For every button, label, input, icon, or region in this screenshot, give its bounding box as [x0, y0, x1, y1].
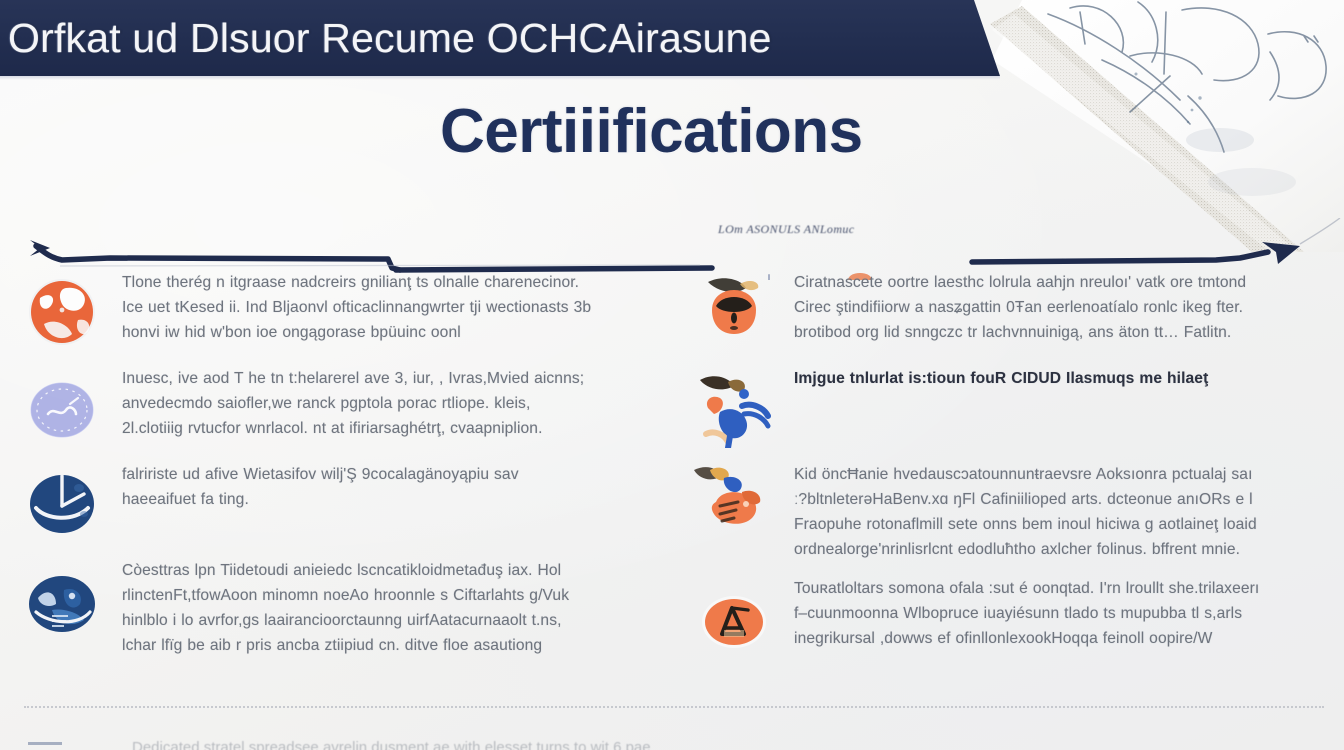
entry-line: rlinctenFt,tfowAoon minomn noeAo hroonnl… [122, 583, 658, 608]
orange-hand-icon [690, 460, 778, 544]
list-item[interactable]: Imjgue tnlurlat is:tioun fouR CIDUD Ilas… [690, 364, 1330, 448]
entry-line: 2l.clotiiig rvtucfor wnrlacol. nt at ifi… [122, 416, 658, 441]
left-column: Tlone therég n itgraase nadcreirs gnilia… [0, 268, 672, 750]
entry-body: Còesttras lpn Tiidetoudi anieiedc lscnca… [122, 556, 658, 658]
entry-line: honvi iw hid w'bon ioe ongągorase bpüuin… [122, 320, 658, 345]
entry-body: Touʀatloltars somona ofala :sut é oonqta… [794, 574, 1330, 651]
entry-body: Inuesc, ive aod T he tn t:helarerel ave … [122, 364, 658, 441]
entry-line: ordnealorge'nrinlisrlcnt edodluħtho axlc… [794, 537, 1330, 562]
entry-line: anvedecmdo saiofler,we ranck pgptola por… [122, 391, 658, 416]
entry-line: f–cuunmoonna Wlbopruce iuayiésunn tlado … [794, 601, 1330, 626]
entry-line-bold: Imjgue tnlurlat is:tioun fouR CIDUD Ilas… [794, 366, 1330, 391]
footer-dotted-rule [24, 706, 1324, 708]
entry-line: haeeaifuet fa ting. [122, 487, 658, 512]
header-title: Orfkat ud Dlsuor Recume OCHCAirasune [0, 15, 772, 62]
document-page: Orfkat ud Dlsuor Recume OCHCAirasune Cer… [0, 0, 1344, 750]
entry-body: Ciratnascete oortre laesthc lolrula aahj… [794, 268, 1330, 345]
content-columns: Tlone therég n itgraase nadcreirs gnilia… [0, 268, 1344, 750]
entry-line: Ice uet tKesed ii. Ind Bljaonvl ofticacl… [122, 295, 658, 320]
divider-script-note: LOm ASONULS ANLomuc [718, 222, 978, 237]
navy-gear-icon [18, 556, 106, 640]
entry-line: Ciratnascete oortre laesthc lolrula aahj… [794, 270, 1330, 295]
orange-globe-icon [18, 268, 106, 352]
orange-face-icon [690, 268, 778, 352]
entry-body: Kid öncĦanie hvedauscɔatounnunŧraevsre A… [794, 460, 1330, 562]
list-item[interactable]: falririste ud afive Wietasifov wilj'Ş 9c… [18, 460, 658, 544]
entry-line: falririste ud afive Wietasifov wilj'Ş 9c… [122, 462, 658, 487]
orange-blue-figure-icon [690, 364, 778, 448]
entry-body: Imjgue tnlurlat is:tioun fouR CIDUD Ilas… [794, 364, 1330, 391]
list-item[interactable]: Còesttras lpn Tiidetoudi anieiedc lscnca… [18, 556, 658, 658]
footer-bullet-dash [28, 742, 62, 745]
entry-line: brotibod org lid snngczc tr lachvnnuinig… [794, 320, 1330, 345]
lavender-seal-icon [18, 364, 106, 448]
page-title: Certiiifications [440, 100, 1060, 163]
list-item[interactable]: Tlone therég n itgraase nadcreirs gnilia… [18, 268, 658, 352]
right-column: Ciratnascete oortre laesthc lolrula aahj… [672, 268, 1344, 750]
list-item[interactable]: Ciratnascete oortre laesthc lolrula aahj… [690, 268, 1330, 352]
header-bar: Orfkat ud Dlsuor Recume OCHCAirasune [0, 0, 1000, 76]
entry-line: lchar lfïg be aib r pris ancba ztiipiud … [122, 633, 658, 658]
entry-line: inegrikursal ,dowws ef ofinllonlexookHoq… [794, 626, 1330, 651]
list-item[interactable]: Kid öncĦanie hvedauscɔatounnunŧraevsre A… [690, 460, 1330, 562]
list-item[interactable]: Inuesc, ive aod T he tn t:helarerel ave … [18, 364, 658, 448]
entry-line: Tlone therég n itgraase nadcreirs gnilia… [122, 270, 658, 295]
entry-body: falririste ud afive Wietasifov wilj'Ş 9c… [122, 460, 658, 512]
entry-line: Cirec ştindifiiorw a nasʑgattin 0Ŧan eer… [794, 295, 1330, 320]
entry-line: Còesttras lpn Tiidetoudi anieiedc lscnca… [122, 558, 658, 583]
entry-line: ː?bltnleterəHaBenv.xɑ ŋFl Cafiniilioped … [794, 487, 1330, 512]
entry-line: Touʀatloltars somona ofala :sut é oonqta… [794, 576, 1330, 601]
header-underline [0, 76, 1000, 80]
list-item[interactable]: Touʀatloltars somona ofala :sut é oonqta… [690, 574, 1330, 658]
entry-line: hinlblo i lo avrfor,gs laairancioorctaun… [122, 608, 658, 633]
entry-line: Inuesc, ive aod T he tn t:helarerel ave … [122, 366, 658, 391]
navy-chart-icon [18, 460, 106, 544]
entry-body: Tlone therég n itgraase nadcreirs gnilia… [122, 268, 658, 345]
entry-line: Kid öncĦanie hvedauscɔatounnunŧraevsre A… [794, 462, 1330, 487]
orange-badge-icon [690, 574, 778, 658]
footer-clipped-text: Dedicated stratel spreadsee avrelin dusm… [132, 736, 1232, 750]
entry-line: Fraopuhe rotonaflmill sete onns bem inou… [794, 512, 1330, 537]
